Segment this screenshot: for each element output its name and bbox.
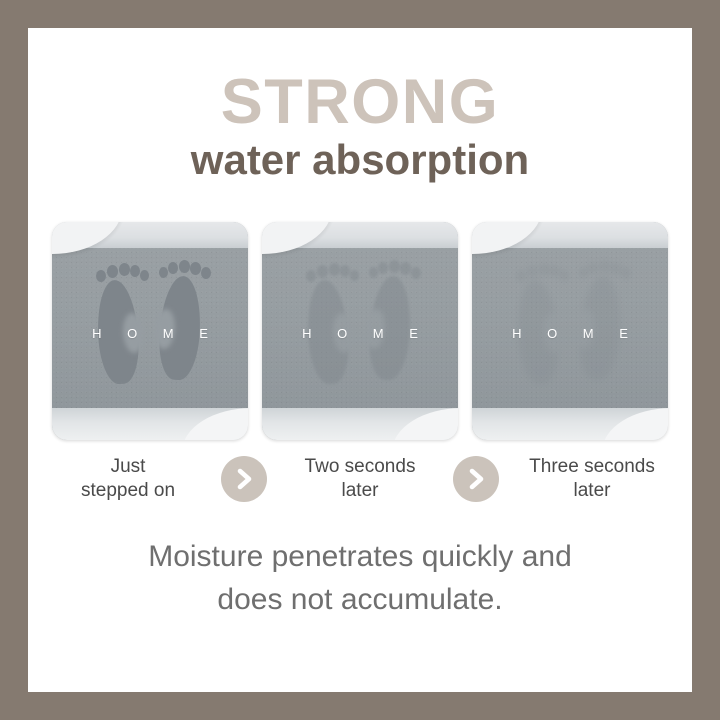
mat-wordmark: H O M E bbox=[52, 326, 248, 341]
toe bbox=[369, 267, 378, 278]
caption-line-2: later bbox=[284, 479, 436, 503]
toe bbox=[201, 267, 211, 279]
toe bbox=[168, 262, 178, 274]
chevron-right-badge-1 bbox=[221, 456, 267, 502]
toe bbox=[539, 263, 550, 276]
toe bbox=[579, 267, 588, 278]
toe bbox=[400, 262, 411, 275]
mat-wordmark: H O M E bbox=[472, 326, 668, 341]
page-title: STRONG water absorption bbox=[28, 70, 692, 187]
toe bbox=[317, 265, 328, 278]
outer-frame: STRONG water absorption bbox=[0, 0, 720, 720]
toe bbox=[599, 260, 610, 273]
toe bbox=[340, 265, 350, 277]
toe bbox=[411, 267, 421, 279]
chevron-right-badge-2 bbox=[453, 456, 499, 502]
tagline: Moisture penetrates quickly and does not… bbox=[48, 536, 672, 621]
toe bbox=[140, 270, 149, 281]
mat-wordmark: H O M E bbox=[262, 326, 458, 341]
toe bbox=[107, 265, 118, 278]
chevron-right-icon bbox=[232, 467, 256, 491]
tagline-line-1: Moisture penetrates quickly and bbox=[48, 536, 672, 579]
caption-line-2: stepped on bbox=[52, 479, 204, 503]
toe bbox=[621, 267, 631, 279]
demo-panel-row: H O M E bbox=[52, 222, 668, 440]
caption-just-stepped-on: Just stepped on bbox=[52, 455, 204, 503]
toe bbox=[329, 263, 340, 276]
toe bbox=[527, 265, 538, 278]
toe bbox=[560, 270, 569, 281]
caption-row: Just stepped on Two seconds later Three … bbox=[52, 448, 668, 510]
toe bbox=[96, 270, 106, 282]
headline-secondary: water absorption bbox=[28, 134, 692, 187]
toe bbox=[306, 270, 316, 282]
toe bbox=[190, 262, 201, 275]
toe bbox=[179, 260, 190, 273]
caption-line-2: later bbox=[516, 479, 668, 503]
caption-line-1: Two seconds bbox=[284, 455, 436, 479]
toe bbox=[130, 265, 140, 277]
toe bbox=[516, 270, 526, 282]
caption-three-seconds-later: Three seconds later bbox=[516, 455, 668, 503]
panel-two-seconds-later: H O M E bbox=[262, 222, 458, 440]
caption-line-1: Just bbox=[52, 455, 204, 479]
tagline-line-2: does not accumulate. bbox=[48, 579, 672, 622]
headline-primary: STRONG bbox=[28, 70, 692, 134]
toe bbox=[588, 262, 598, 274]
caption-line-1: Three seconds bbox=[516, 455, 668, 479]
chevron-right-icon bbox=[464, 467, 488, 491]
toe bbox=[159, 267, 168, 278]
toe bbox=[350, 270, 359, 281]
panel-three-seconds-later: H O M E bbox=[472, 222, 668, 440]
toe bbox=[389, 260, 400, 273]
caption-two-seconds-later: Two seconds later bbox=[284, 455, 436, 503]
toe bbox=[610, 262, 621, 275]
toe bbox=[378, 262, 388, 274]
toe bbox=[119, 263, 130, 276]
poster-canvas: STRONG water absorption bbox=[28, 28, 692, 692]
toe bbox=[550, 265, 560, 277]
panel-just-stepped-on: H O M E bbox=[52, 222, 248, 440]
